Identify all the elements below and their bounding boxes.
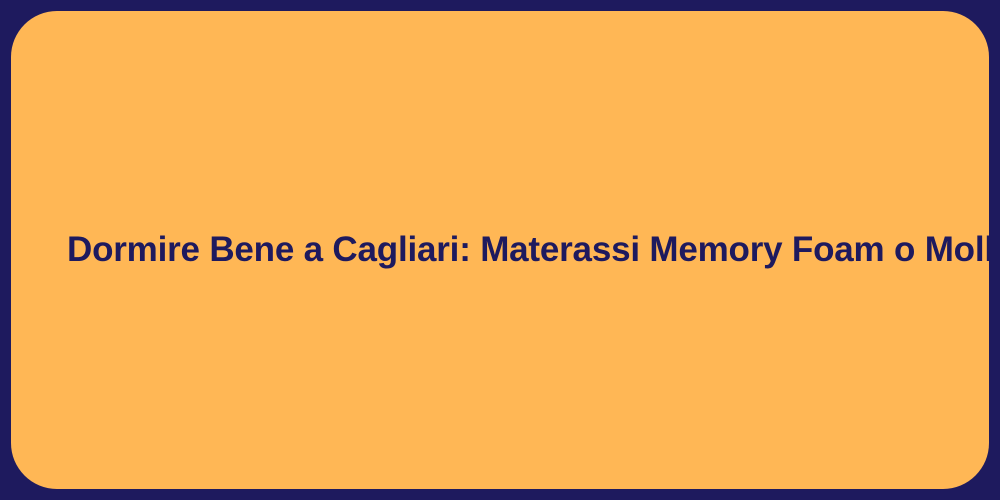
banner-title: Dormire Bene a Cagliari: Materassi Memor… (11, 228, 989, 272)
banner-panel: Dormire Bene a Cagliari: Materassi Memor… (11, 11, 989, 489)
banner-frame: Dormire Bene a Cagliari: Materassi Memor… (0, 0, 1000, 500)
